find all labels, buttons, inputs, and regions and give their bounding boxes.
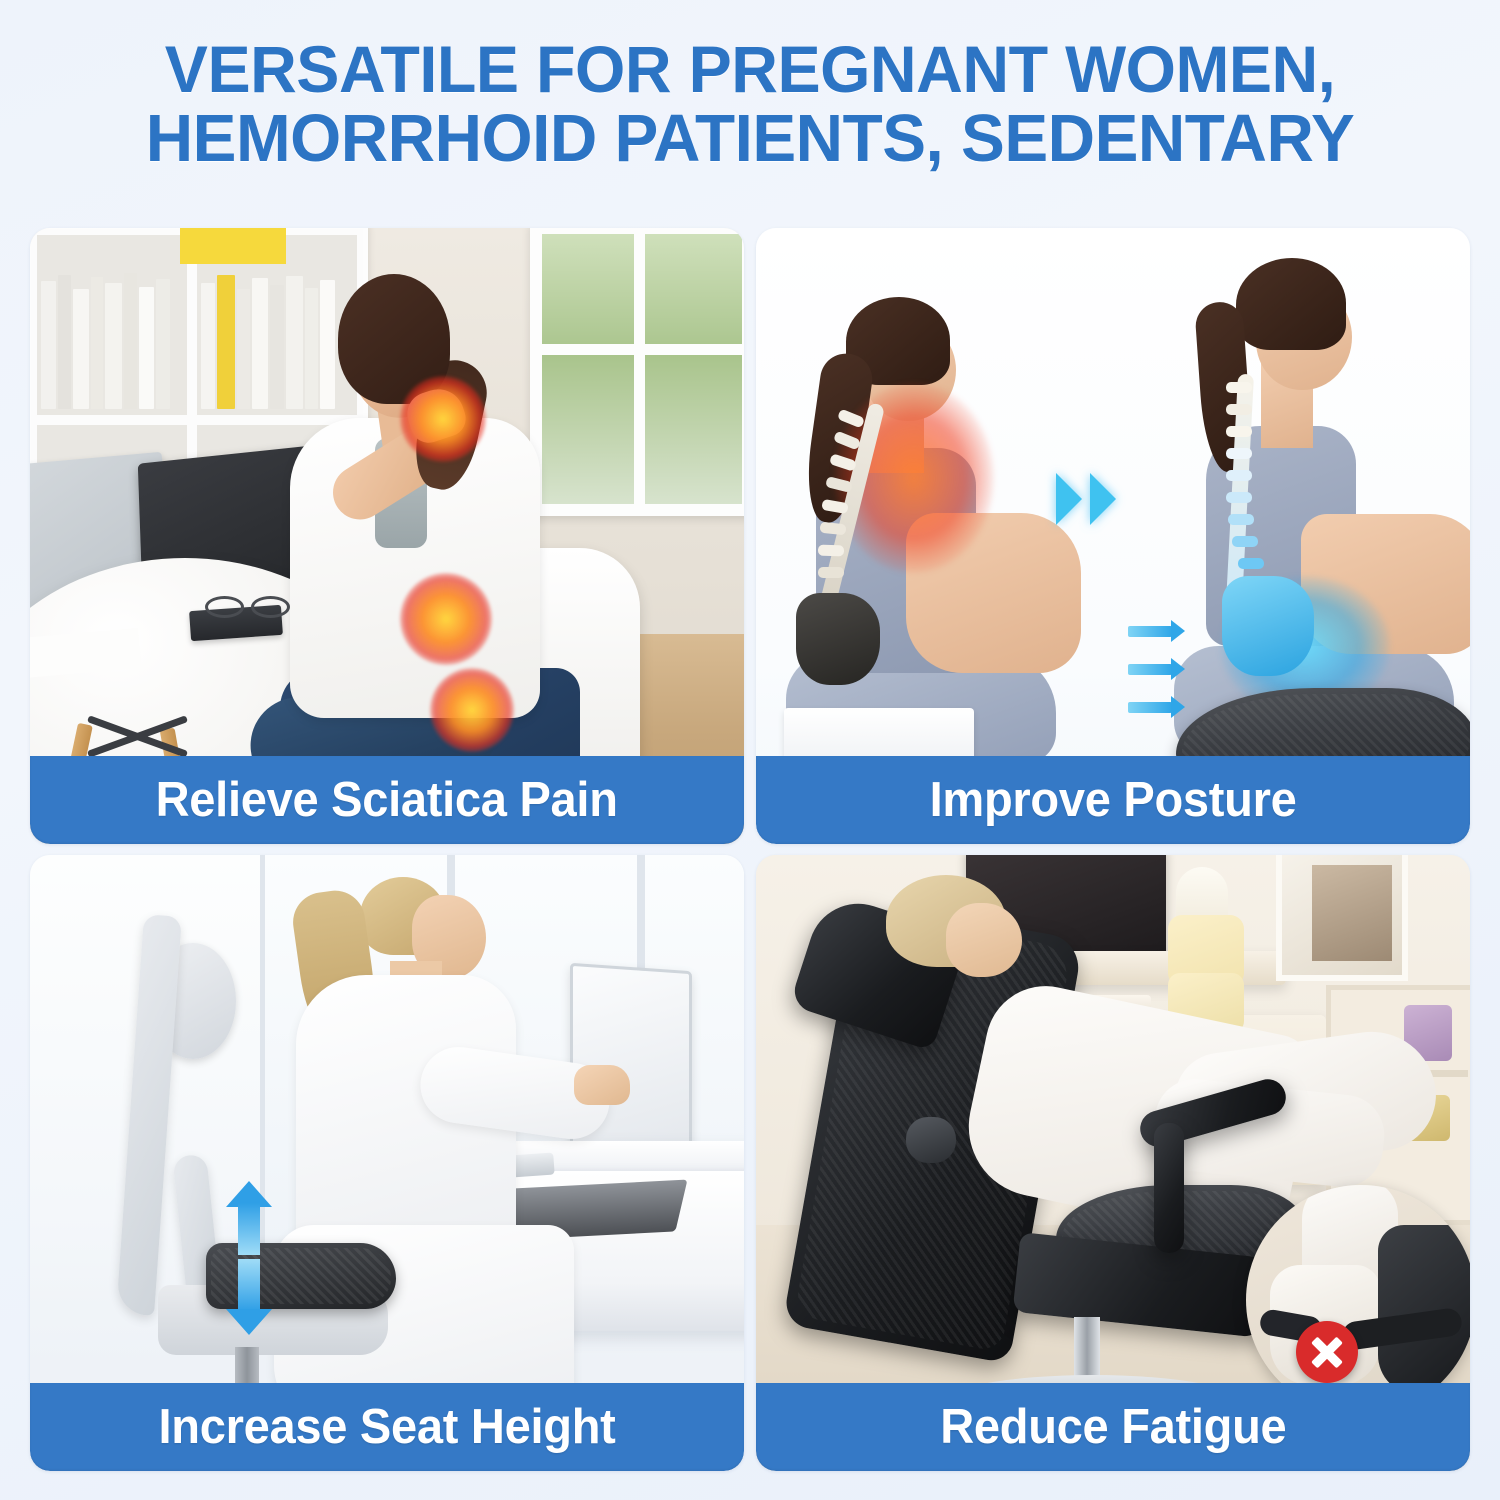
panel-caption-bar: Relieve Sciatica Pain (30, 756, 744, 844)
picture-art (1312, 865, 1392, 961)
shelf-top-item (180, 228, 286, 264)
feature-panel-increase-seat-height[interactable]: Increase Seat Height (30, 855, 744, 1471)
red-x-badge-icon (1296, 1321, 1358, 1383)
page-title-line-1: VERSATILE FOR PREGNANT WOMEN, (15, 34, 1485, 104)
scene-improve-posture (756, 228, 1470, 844)
armrest-post (1154, 1123, 1184, 1253)
scene-relieve-sciatica-pain (30, 228, 744, 844)
lumbar-support-arrow (1128, 626, 1172, 637)
eyeglasses (205, 596, 287, 612)
page-title: VERSATILE FOR PREGNANT WOMEN, HEMORRHOID… (15, 34, 1485, 174)
inset-circle-bad-posture (1246, 1185, 1470, 1415)
panel-caption-text: Improve Posture (930, 774, 1297, 826)
feature-panel-reduce-fatigue[interactable]: Reduce Fatigue (756, 855, 1470, 1471)
pelvis-bone (796, 593, 880, 685)
lumbar-support-arrow (1128, 664, 1172, 675)
scene-increase-seat-height (30, 855, 744, 1471)
chair-back (1378, 1225, 1470, 1395)
face (946, 903, 1022, 977)
panel-caption-bar: Improve Posture (756, 756, 1470, 844)
feature-panel-relieve-sciatica-pain[interactable]: Relieve Sciatica Pain (30, 228, 744, 844)
up-arrow-icon (226, 1181, 272, 1257)
panel-caption-text: Relieve Sciatica Pain (156, 774, 618, 826)
panel-caption-text: Increase Seat Height (158, 1401, 615, 1453)
panel-caption-text: Reduce Fatigue (940, 1401, 1286, 1453)
panel-caption-bar: Increase Seat Height (30, 1383, 744, 1471)
feature-panel-improve-posture[interactable]: Improve Posture (756, 228, 1470, 844)
pelvis-bone-highlighted (1222, 576, 1314, 676)
down-arrow-icon (226, 1259, 272, 1337)
lumbar-support-arrow (1128, 702, 1172, 713)
chevron-arrow-icon (1090, 473, 1116, 525)
feature-panel-grid: Relieve Sciatica Pain (30, 228, 1470, 1471)
lumbar-knob (906, 1117, 956, 1163)
tailbone-pain-hotspot (430, 668, 514, 752)
page-title-line-2: HEMORRHOID PATIENTS, SEDENTARY (15, 104, 1485, 174)
scene-reduce-fatigue (756, 855, 1470, 1471)
neck-pain-hotspot (400, 376, 486, 462)
lower-back-pain-hotspot (400, 573, 492, 665)
chevron-arrow-icon (1056, 473, 1082, 525)
panel-caption-bar: Reduce Fatigue (756, 1383, 1470, 1471)
woman-with-neck-pain (280, 268, 570, 828)
hand (574, 1065, 630, 1105)
